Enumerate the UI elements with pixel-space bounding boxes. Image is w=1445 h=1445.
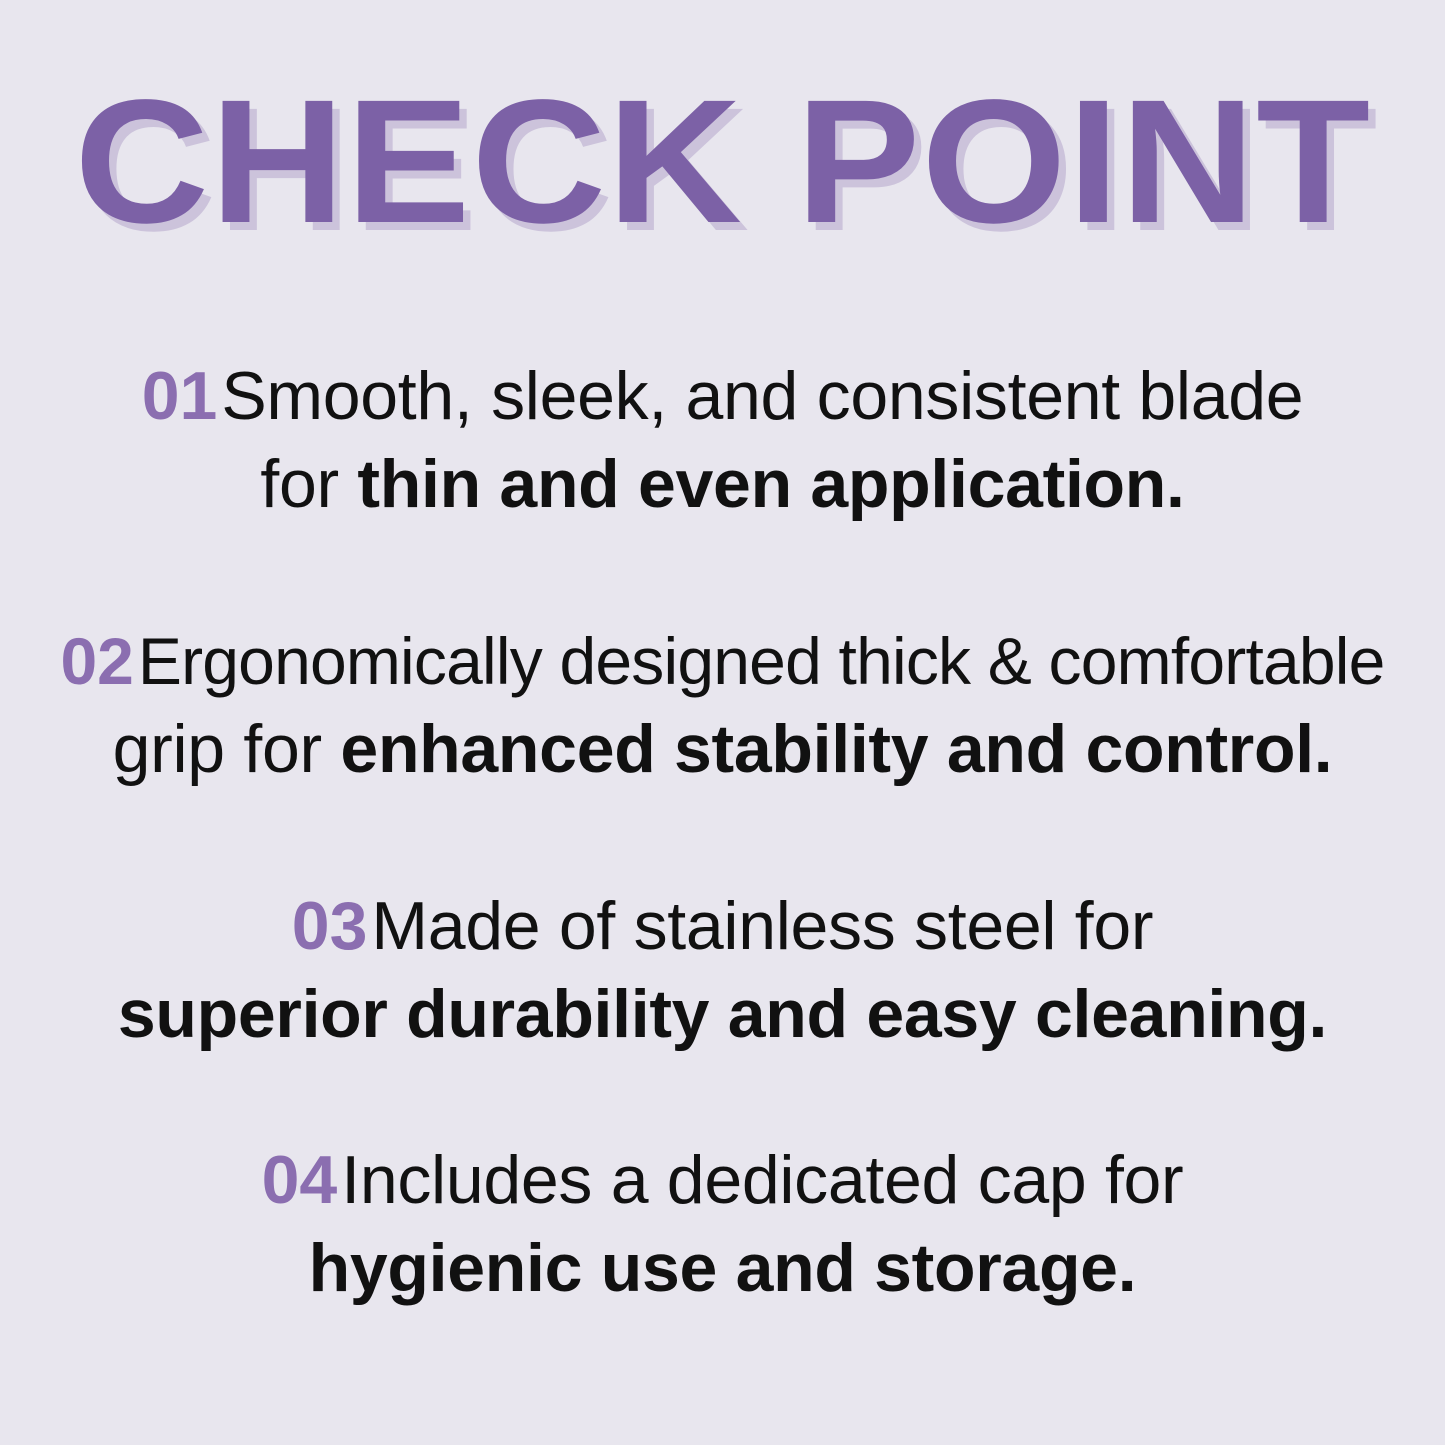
list-item: 04Includes a dedicated cap for hygienic … (0, 1136, 1445, 1312)
point-line-primary: 01Smooth, sleek, and consistent blade (8, 352, 1437, 440)
point-text-regular: Includes a dedicated cap for (341, 1142, 1183, 1218)
point-number: 03 (292, 888, 368, 964)
point-line-secondary: superior durability and easy cleaning. (8, 970, 1437, 1058)
point-text-emphasis: thin and even application. (357, 446, 1184, 522)
point-line-primary: 02Ergonomically designed thick & comfort… (8, 617, 1437, 705)
point-text-emphasis: enhanced stability and control. (340, 711, 1332, 787)
point-text-regular: Made of stainless steel for (371, 888, 1153, 964)
point-text-emphasis: superior durability and easy cleaning. (118, 976, 1327, 1052)
point-text-regular: Smooth, sleek, and consistent blade (221, 358, 1303, 434)
check-point-list: 01Smooth, sleek, and consistent blade fo… (0, 352, 1445, 1312)
point-text-regular: grip for (113, 711, 341, 787)
point-text-regular: Ergonomically designed thick & comfortab… (138, 624, 1385, 698)
list-item: 01Smooth, sleek, and consistent blade fo… (0, 352, 1445, 528)
point-number: 02 (60, 624, 133, 698)
point-text-regular: for (260, 446, 357, 522)
point-line-primary: 04Includes a dedicated cap for (8, 1136, 1437, 1224)
point-line-primary: 03Made of stainless steel for (8, 882, 1437, 970)
page-title: CHECK POINT (74, 74, 1371, 250)
list-item: 02Ergonomically designed thick & comfort… (0, 617, 1445, 793)
point-number: 01 (142, 358, 218, 434)
point-number: 04 (262, 1142, 338, 1218)
point-line-secondary: for thin and even application. (8, 440, 1437, 528)
point-line-secondary: hygienic use and storage. (8, 1224, 1437, 1312)
check-point-poster: CHECK POINT 01Smooth, sleek, and consist… (0, 0, 1445, 1445)
point-line-secondary: grip for enhanced stability and control. (8, 705, 1437, 793)
point-text-emphasis: hygienic use and storage. (309, 1230, 1137, 1306)
list-item: 03Made of stainless steel for superior d… (0, 882, 1445, 1058)
page-title-container: CHECK POINT (0, 74, 1445, 250)
